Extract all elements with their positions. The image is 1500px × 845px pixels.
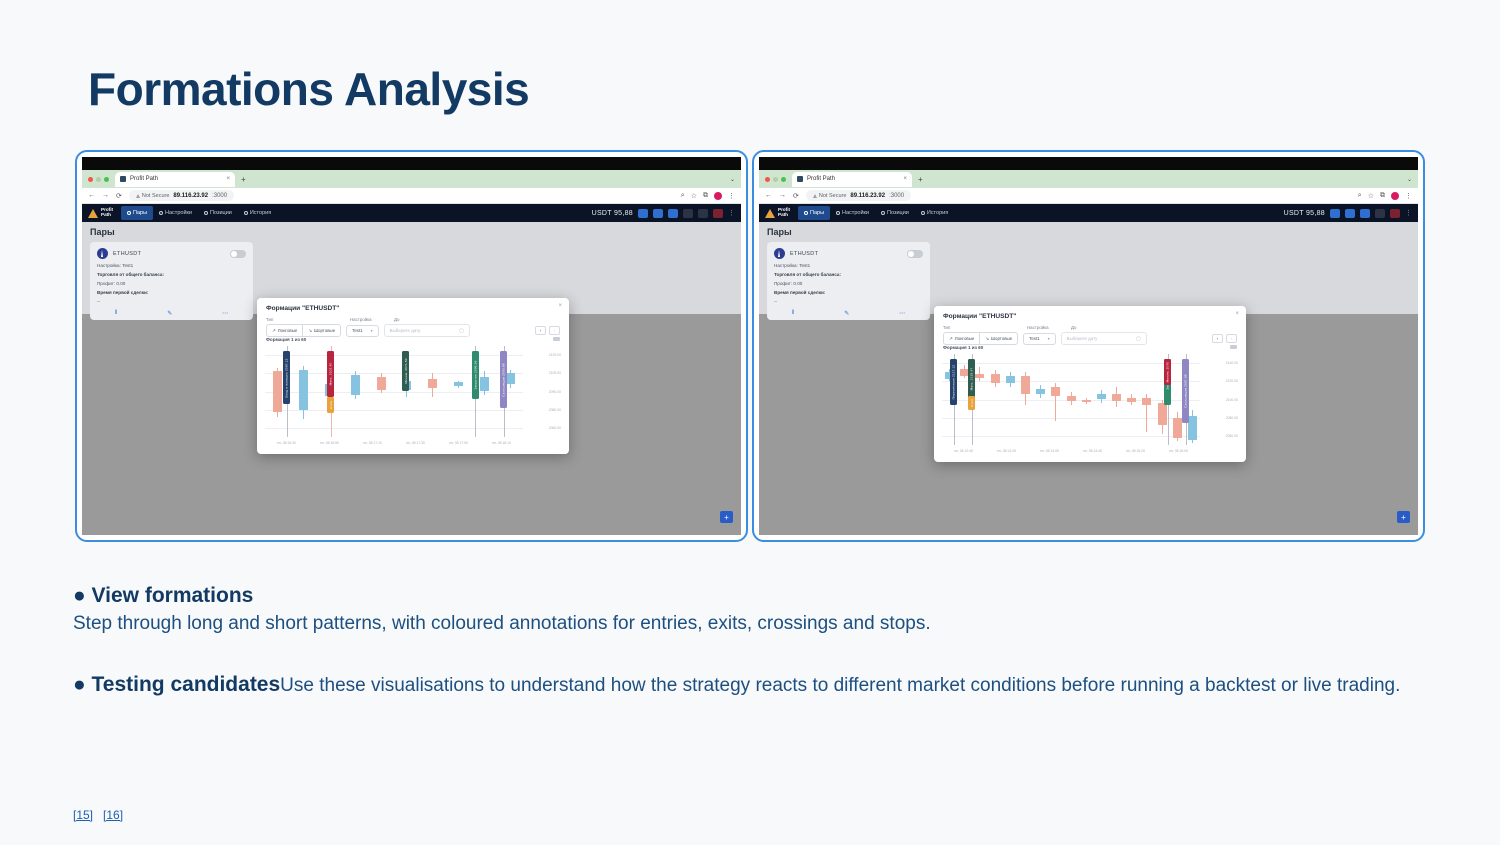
bullet-1-body: Step through long and short patterns, wi…	[73, 610, 1433, 638]
annotation-label: Миним. 2071.50	[404, 359, 408, 385]
formation-counter: Формация 1 из 60	[943, 345, 983, 350]
pair-first-deal-label: Время первой сделки:	[97, 290, 246, 295]
browser-window-right: Profit Path × + ⌄ ← → ⟳ Not Secure 89.11…	[759, 157, 1418, 535]
candle-body	[1097, 394, 1106, 399]
nav-item-positions[interactable]: Позиции	[875, 206, 915, 220]
formations-modal[interactable]: Формации "ETHUSDT" × Тип Настройка До ↗ …	[934, 306, 1246, 462]
candle-body	[1127, 398, 1136, 403]
candle	[273, 346, 282, 437]
until-date-input[interactable]: Выберите дату ▢	[1061, 332, 1147, 345]
next-formation-button[interactable]: ›	[1226, 334, 1237, 343]
url-port: :3000	[889, 193, 904, 199]
edit-action-icon[interactable]: ✎	[167, 310, 172, 317]
app-body-left: Пары ETHUSDT Настройка: Test1 Торговля о…	[82, 222, 741, 535]
long-button[interactable]: ↗ Лонговые	[944, 333, 979, 344]
brand-line-2: Path	[778, 213, 790, 218]
trend-down-icon: ↘	[308, 328, 312, 334]
add-pair-button[interactable]: +	[720, 511, 733, 523]
chevron-down-icon: ▾	[1048, 336, 1050, 341]
bullet-2-body: Use these visualisations to understand h…	[280, 675, 1400, 696]
app-body-right: Пары ETHUSDT Настройка: Test1 Торговля о…	[759, 222, 1418, 535]
pair-setting-label: Настройка:	[774, 263, 798, 268]
theme-light-button[interactable]	[1375, 209, 1385, 218]
screenshot-panel-left[interactable]: Profit Path × + ⌄ ← → ⟳ Not Secure 89.11…	[75, 150, 748, 542]
forward-icon[interactable]: →	[102, 192, 109, 199]
x-axis-tick: пн, 08 14:45	[1083, 449, 1102, 453]
candlestick-chart-left: Вход в позицию 2087.12Макс. 2102.40СтопМ…	[265, 346, 561, 450]
calendar-icon: ▢	[1136, 336, 1141, 342]
browser-tab[interactable]: Profit Path ×	[792, 172, 912, 187]
chart-x-axis: пн, 08 16:30пн, 08 16:50пн, 08 17:10пн, …	[265, 438, 523, 450]
nav-item-label: Пары	[133, 210, 147, 216]
browser-menu-icon[interactable]: ⋮	[1405, 192, 1412, 200]
pair-profit-label: Профит:	[97, 281, 115, 286]
y-axis-tick: 2090.00	[549, 390, 561, 394]
nav-item-label: Позиции	[887, 210, 909, 216]
browser-tab[interactable]: Profit Path ×	[115, 172, 235, 187]
chevron-down-icon[interactable]: ⌄	[1407, 176, 1412, 183]
long-label: Лонговые	[955, 336, 975, 341]
pairs-icon	[127, 211, 131, 215]
candle-body	[1006, 376, 1015, 383]
account-button[interactable]	[1360, 209, 1370, 218]
chart-annotation: Скользящая 2093.88	[500, 351, 507, 407]
candle-body	[975, 374, 984, 378]
pair-card-header: ETHUSDT	[97, 248, 246, 259]
candle-body	[1021, 376, 1030, 394]
not-secure-label: Not Secure	[142, 193, 170, 199]
gear-icon	[159, 211, 163, 215]
annotation-label: Стоп	[970, 399, 974, 407]
eth-coin-icon	[774, 248, 785, 259]
candle-body	[1188, 416, 1197, 440]
minimize-window-icon[interactable]	[773, 177, 778, 182]
date-placeholder: Выберите дату	[390, 328, 421, 333]
page-heading: Пары	[767, 227, 792, 237]
nav-item-pairs[interactable]: Пары	[121, 206, 153, 220]
close-icon[interactable]: ×	[558, 303, 562, 309]
balance-label: USDT 95,88	[592, 210, 633, 217]
nav-item-history[interactable]: История	[915, 206, 954, 220]
pairs-icon	[804, 211, 808, 215]
favicon-icon	[120, 176, 126, 182]
browser-urlbar-right: ← → ⟳ Not Secure 89.116.23.92:3000 ⌕ ☆ ⧉…	[759, 188, 1418, 204]
next-formation-button[interactable]: ›	[549, 326, 560, 335]
candle	[1021, 354, 1030, 445]
candle	[1112, 354, 1121, 445]
maximize-window-icon[interactable]	[781, 177, 786, 182]
candle	[428, 346, 437, 437]
calendar-icon: ▢	[459, 328, 464, 334]
candle-body	[1036, 389, 1045, 394]
candle	[1006, 354, 1015, 445]
zoom-icon[interactable]: ⌕	[681, 192, 685, 200]
candle	[1142, 354, 1151, 445]
nav-item-label: История	[927, 210, 948, 216]
navbar-right: USDT 95,88 ⋮	[592, 209, 735, 218]
candle-body	[377, 377, 386, 390]
candle	[299, 346, 308, 437]
bookmark-star-icon[interactable]: ☆	[1368, 192, 1374, 200]
pair-profit-label: Профит:	[774, 281, 792, 286]
candle-body	[1173, 418, 1182, 438]
pair-card-header: ETHUSDT	[774, 248, 923, 259]
candle-body	[1158, 403, 1167, 425]
chevron-down-icon[interactable]: ⌄	[730, 176, 735, 183]
until-date-input[interactable]: Выберите дату ▢	[384, 324, 470, 337]
references: [15] [16]	[73, 808, 123, 822]
prev-formation-button[interactable]: ‹	[535, 326, 546, 335]
nav-item-positions[interactable]: Позиции	[198, 206, 238, 220]
nav-item-label: Настройки	[165, 210, 192, 216]
type-toggle-group[interactable]: ↗ Лонговые ↘ Шортовые	[943, 332, 1018, 345]
chart-annotation: Вход в позицию 2087.12	[283, 351, 290, 404]
nav-item-settings[interactable]: Настройки	[153, 206, 198, 220]
annotation-label: Закрытие 2095.36	[473, 361, 477, 390]
pair-setting-row: Настройка: Test1	[97, 263, 246, 268]
candle-body	[273, 371, 282, 411]
browser-menu-icon[interactable]: ⋮	[728, 192, 735, 200]
chart-action-icon[interactable]: ‖	[792, 310, 794, 317]
chart-annotation: Стоп	[327, 397, 334, 413]
setting-select[interactable]: Test1 ▾	[346, 325, 379, 337]
short-label: Шортовые	[991, 336, 1012, 341]
annotation-label: Вход в позицию 2087.12	[285, 358, 289, 397]
y-axis-tick: 2100.00	[1226, 398, 1238, 402]
browser-tabbar-right: Profit Path × + ⌄	[759, 170, 1418, 188]
y-axis-tick: 2109.00	[549, 371, 561, 375]
screen-top-strip	[82, 157, 741, 170]
label-setting: Настройка	[1027, 325, 1071, 330]
modal-title: Формации "ETHUSDT"	[943, 313, 1016, 320]
y-axis-tick: 2080.00	[549, 408, 561, 412]
maximize-window-icon[interactable]	[104, 177, 109, 182]
label-type: Тип	[266, 317, 350, 322]
url-host: 89.116.23.92	[850, 193, 885, 199]
slide-root: Formations Analysis Profit Path × + ⌄	[0, 0, 1500, 845]
y-axis-tick: 2140.00	[1226, 361, 1238, 365]
candle	[975, 354, 984, 445]
candle	[1051, 354, 1060, 445]
edit-action-icon[interactable]: ✎	[844, 310, 849, 317]
minimize-window-icon[interactable]	[96, 177, 101, 182]
extensions-icon[interactable]: ⧉	[703, 192, 708, 200]
pair-setting-row: Настройка: Test1	[774, 263, 923, 268]
annotation-label: Макс. 2102.40	[329, 363, 333, 386]
tab-title: Profit Path	[130, 176, 158, 182]
modal-controls: ↗ Лонговые ↘ Шортовые Test1 ▾	[943, 332, 1237, 345]
reference-link-15[interactable]: [15]	[73, 808, 93, 822]
gear-icon	[836, 211, 840, 215]
close-icon[interactable]: ×	[1235, 311, 1239, 317]
page-heading: Пары	[90, 227, 115, 237]
screenshot-panel-right[interactable]: Profit Path × + ⌄ ← → ⟳ Not Secure 89.11…	[752, 150, 1425, 542]
setting-select[interactable]: Test1 ▾	[1023, 333, 1056, 345]
pair-enable-toggle[interactable]	[230, 250, 246, 258]
annotation-label: Пересечение 2117.12	[952, 365, 956, 400]
candle-body	[428, 379, 437, 388]
theme-light-button[interactable]	[683, 209, 693, 218]
formation-counter: Формация 1 из 60	[266, 337, 306, 342]
label-setting: Настройка	[350, 317, 394, 322]
zoom-icon[interactable]: ⌕	[1358, 192, 1362, 200]
back-icon[interactable]: ←	[88, 192, 95, 199]
app-navbar-left: Profit Path Пары Настройки Позиции	[82, 204, 741, 222]
info-button[interactable]	[1345, 209, 1355, 218]
pair-first-deal-value: --	[97, 299, 246, 304]
candle-body	[299, 370, 308, 410]
pair-first-deal-label: Время первой сделки:	[774, 290, 923, 295]
brand-line-2: Path	[101, 213, 113, 218]
eth-coin-icon	[97, 248, 108, 259]
add-pair-button[interactable]: +	[1397, 511, 1410, 523]
candle	[1188, 354, 1197, 445]
candle	[454, 346, 463, 437]
candlestick-chart-right: Пересечение 2117.12Макс. 2133.47СтопЗакр…	[942, 354, 1238, 458]
extensions-icon[interactable]: ⧉	[1380, 192, 1385, 200]
screen-top-strip	[759, 157, 1418, 170]
x-axis-tick: пн, 08 16:30	[277, 441, 296, 445]
back-icon[interactable]: ←	[765, 192, 772, 199]
annotation-label: Миним. 2070	[1166, 362, 1170, 383]
chart-annotation: Макс. 2102.40	[327, 351, 334, 397]
avatar[interactable]	[714, 192, 722, 200]
x-axis-tick: пн, 08 17:30	[406, 441, 425, 445]
browser-window-left: Profit Path × + ⌄ ← → ⟳ Not Secure 89.11…	[82, 157, 741, 535]
annotation-label: Скользящая 2093.88	[502, 363, 506, 396]
app-navbar-right: Profit Path Пары Настройки Позиции	[759, 204, 1418, 222]
reference-link-16[interactable]: [16]	[103, 808, 123, 822]
y-axis-tick: 2129.00	[549, 353, 561, 357]
pair-first-deal-value: --	[774, 299, 923, 304]
chart-y-axis: 2129.002109.002090.002080.002060.00	[525, 346, 561, 437]
annotation-label: Макс. 2133.47	[970, 368, 974, 391]
page-title: Formations Analysis	[88, 62, 529, 116]
not-secure-badge[interactable]: Not Secure	[813, 193, 847, 199]
bookmark-star-icon[interactable]: ☆	[691, 192, 697, 200]
candle	[1082, 354, 1091, 445]
address-bar[interactable]: Not Secure 89.116.23.92:3000	[129, 190, 234, 201]
label-until: До	[1071, 325, 1076, 330]
candle	[351, 346, 360, 437]
x-axis-tick: пн, 08 16:50	[320, 441, 339, 445]
forward-icon[interactable]: →	[779, 192, 786, 199]
balance-label: USDT 95,88	[1284, 210, 1325, 217]
candle-body	[1112, 394, 1121, 401]
chart-y-axis: 2140.002120.002100.002080.002060.00	[1202, 354, 1238, 445]
nav-item-pairs[interactable]: Пары	[798, 206, 830, 220]
x-axis-tick: пн, 08 14:05	[1040, 449, 1059, 453]
refresh-balance-button[interactable]	[638, 209, 648, 218]
x-axis-tick: пн, 08 16:05	[1169, 449, 1188, 453]
short-button[interactable]: ↘ Шортовые	[302, 325, 340, 336]
not-secure-badge[interactable]: Not Secure	[136, 193, 170, 199]
trend-up-icon: ↗	[272, 328, 276, 334]
nav-item-settings[interactable]: Настройки	[830, 206, 875, 220]
pair-balance-label: Торговля от общего баланса:	[774, 272, 923, 277]
history-icon	[244, 211, 248, 215]
close-window-icon[interactable]	[765, 177, 770, 182]
trend-down-icon: ↘	[985, 336, 989, 342]
formation-pager: ‹ ›	[535, 326, 560, 335]
urlbar-actions: ⌕ ☆ ⧉ ⋮	[681, 192, 735, 200]
favicon-icon	[797, 176, 803, 182]
new-tab-icon[interactable]: +	[241, 175, 246, 184]
theme-dark-button[interactable]	[698, 209, 708, 218]
chart-plot-area: Вход в позицию 2087.12Макс. 2102.40СтопМ…	[265, 346, 523, 437]
long-label: Лонговые	[278, 328, 298, 333]
info-button[interactable]	[653, 209, 663, 218]
logout-button[interactable]	[1390, 209, 1400, 218]
warning-icon	[813, 194, 817, 198]
chart-annotation: Миним. 2071.50	[402, 351, 409, 391]
candle	[480, 346, 489, 437]
label-type: Тип	[943, 325, 1027, 330]
candle-body	[480, 377, 489, 392]
nav-item-label: Позиции	[210, 210, 232, 216]
modal-title: Формации "ETHUSDT"	[266, 305, 339, 312]
urlbar-actions: ⌕ ☆ ⧉ ⋮	[1358, 192, 1412, 200]
tab-title: Profit Path	[807, 176, 835, 182]
chart-x-axis: пн, 08 12:45пн, 08 13:25пн, 08 14:05пн, …	[942, 446, 1200, 458]
pair-enable-toggle[interactable]	[907, 250, 923, 258]
url-port: :3000	[212, 193, 227, 199]
x-axis-tick: пн, 08 18:10	[492, 441, 511, 445]
x-axis-tick: пн, 08 17:10	[363, 441, 382, 445]
reload-icon[interactable]: ⟳	[116, 192, 122, 200]
candle-body	[351, 375, 360, 395]
x-axis-tick: пн, 08 13:25	[997, 449, 1016, 453]
new-tab-icon[interactable]: +	[918, 175, 923, 184]
browser-tabbar-left: Profit Path × + ⌄	[82, 170, 741, 188]
pair-profit-row: Профит: 0.00	[774, 281, 923, 286]
more-action-icon[interactable]: ⋯	[899, 310, 905, 317]
address-bar[interactable]: Not Secure 89.116.23.92:3000	[806, 190, 911, 201]
chart-annotation: Пересечение 2117.12	[950, 359, 957, 405]
sail-logo-icon	[765, 209, 775, 218]
annotation-label: Скользящая 2087.98	[1184, 375, 1188, 408]
x-axis-tick: пн, 08 15:25	[1126, 449, 1145, 453]
pair-profit-row: Профит: 0.00	[97, 281, 246, 286]
short-button[interactable]: ↘ Шортовые	[979, 333, 1017, 344]
nav-item-label: Настройки	[842, 210, 869, 216]
bullet-2-heading: ● Testing candidates	[73, 673, 280, 696]
reload-icon[interactable]: ⟳	[793, 192, 799, 200]
candle	[377, 346, 386, 437]
x-axis-tick: пн, 08 12:45	[954, 449, 973, 453]
pair-setting-label: Настройка:	[97, 263, 121, 268]
pair-profit-value: 0.00	[116, 281, 125, 286]
y-axis-tick: 2080.00	[1226, 416, 1238, 420]
modal-controls: ↗ Лонговые ↘ Шортовые Test1 ▾	[266, 324, 560, 337]
pair-profit-value: 0.00	[793, 281, 802, 286]
not-secure-label: Not Secure	[819, 193, 847, 199]
nav-item-history[interactable]: История	[238, 206, 277, 220]
pair-card[interactable]: ETHUSDT Настройка: Test1 Торговля от общ…	[767, 242, 930, 320]
bullet-2: ● Testing candidatesUse these visualisat…	[73, 670, 1433, 700]
candle-body	[991, 374, 1000, 383]
formation-pager: ‹ ›	[1212, 334, 1237, 343]
nav-item-label: История	[250, 210, 271, 216]
bullet-1-heading: ● View formations	[73, 584, 1433, 608]
chart-annotation: Миним. 2070	[1164, 359, 1171, 384]
brand-logo[interactable]: Profit Path	[765, 208, 790, 218]
short-label: Шортовые	[314, 328, 335, 333]
more-action-icon[interactable]: ⋯	[222, 310, 228, 317]
candle	[1067, 354, 1076, 445]
legend-icon	[1230, 345, 1237, 349]
long-button[interactable]: ↗ Лонговые	[267, 325, 302, 336]
pair-symbol: ETHUSDT	[113, 251, 141, 257]
candle-body	[1082, 400, 1091, 403]
candle-body	[1142, 398, 1151, 405]
overflow-menu-icon[interactable]: ⋮	[1405, 209, 1412, 217]
nav-item-label: Пары	[810, 210, 824, 216]
browser-urlbar-left: ← → ⟳ Not Secure 89.116.23.92:3000 ⌕ ☆ ⧉…	[82, 188, 741, 204]
pair-setting-value: Test1	[799, 263, 810, 268]
url-host: 89.116.23.92	[173, 193, 208, 199]
modal-field-labels: Тип Настройка До	[943, 325, 1237, 330]
pair-symbol: ETHUSDT	[790, 251, 818, 257]
chart-annotation: Макс. 2133.47	[968, 359, 975, 399]
formations-modal[interactable]: Формации "ETHUSDT" × Тип Настройка До ↗ …	[257, 298, 569, 454]
y-axis-tick: 2060.00	[549, 426, 561, 430]
prev-formation-button[interactable]: ‹	[1212, 334, 1223, 343]
candle-body	[1067, 396, 1076, 401]
y-axis-tick: 2120.00	[1226, 379, 1238, 383]
x-axis-tick: пн, 08 17:50	[449, 441, 468, 445]
positions-icon	[204, 211, 208, 215]
window-controls[interactable]	[765, 177, 786, 182]
chart-annotation: Закрытие 2095.36	[472, 351, 479, 398]
trend-up-icon: ↗	[949, 336, 953, 342]
history-icon	[921, 211, 925, 215]
candle	[1127, 354, 1136, 445]
setting-select-value: Test1	[1029, 336, 1040, 341]
chart-action-icon[interactable]: ‖	[115, 310, 117, 317]
window-controls[interactable]	[88, 177, 109, 182]
legend-icon	[553, 337, 560, 341]
logout-button[interactable]	[713, 209, 723, 218]
chart-plot-area: Пересечение 2117.12Макс. 2133.47СтопЗакр…	[942, 354, 1200, 445]
close-tab-icon[interactable]: ×	[226, 176, 230, 182]
close-tab-icon[interactable]: ×	[903, 176, 907, 182]
avatar[interactable]	[1391, 192, 1399, 200]
chevron-down-icon: ▾	[371, 328, 373, 333]
bullet-list: ● View formations Step through long and …	[73, 584, 1433, 700]
navbar-right: USDT 95,88 ⋮	[1284, 209, 1412, 218]
close-window-icon[interactable]	[88, 177, 93, 182]
account-button[interactable]	[668, 209, 678, 218]
annotation-label: Стоп	[329, 401, 333, 409]
sail-logo-icon	[88, 209, 98, 218]
candle	[1173, 354, 1182, 445]
candle	[991, 354, 1000, 445]
pair-card[interactable]: ETHUSDT Настройка: Test1 Торговля от общ…	[90, 242, 253, 320]
warning-icon	[136, 194, 140, 198]
refresh-balance-button[interactable]	[1330, 209, 1340, 218]
setting-select-value: Test1	[352, 328, 363, 333]
candle-body	[1051, 387, 1060, 396]
pair-setting-value: Test1	[122, 263, 133, 268]
pair-balance-label: Торговля от общего баланса:	[97, 272, 246, 277]
pair-card-actions: ‖ ✎ ⋯	[90, 310, 253, 317]
overflow-menu-icon[interactable]: ⋮	[728, 209, 735, 217]
candle	[1036, 354, 1045, 445]
brand-logo[interactable]: Profit Path	[88, 208, 113, 218]
type-toggle-group[interactable]: ↗ Лонговые ↘ Шортовые	[266, 324, 341, 337]
y-axis-tick: 2060.00	[1226, 434, 1238, 438]
